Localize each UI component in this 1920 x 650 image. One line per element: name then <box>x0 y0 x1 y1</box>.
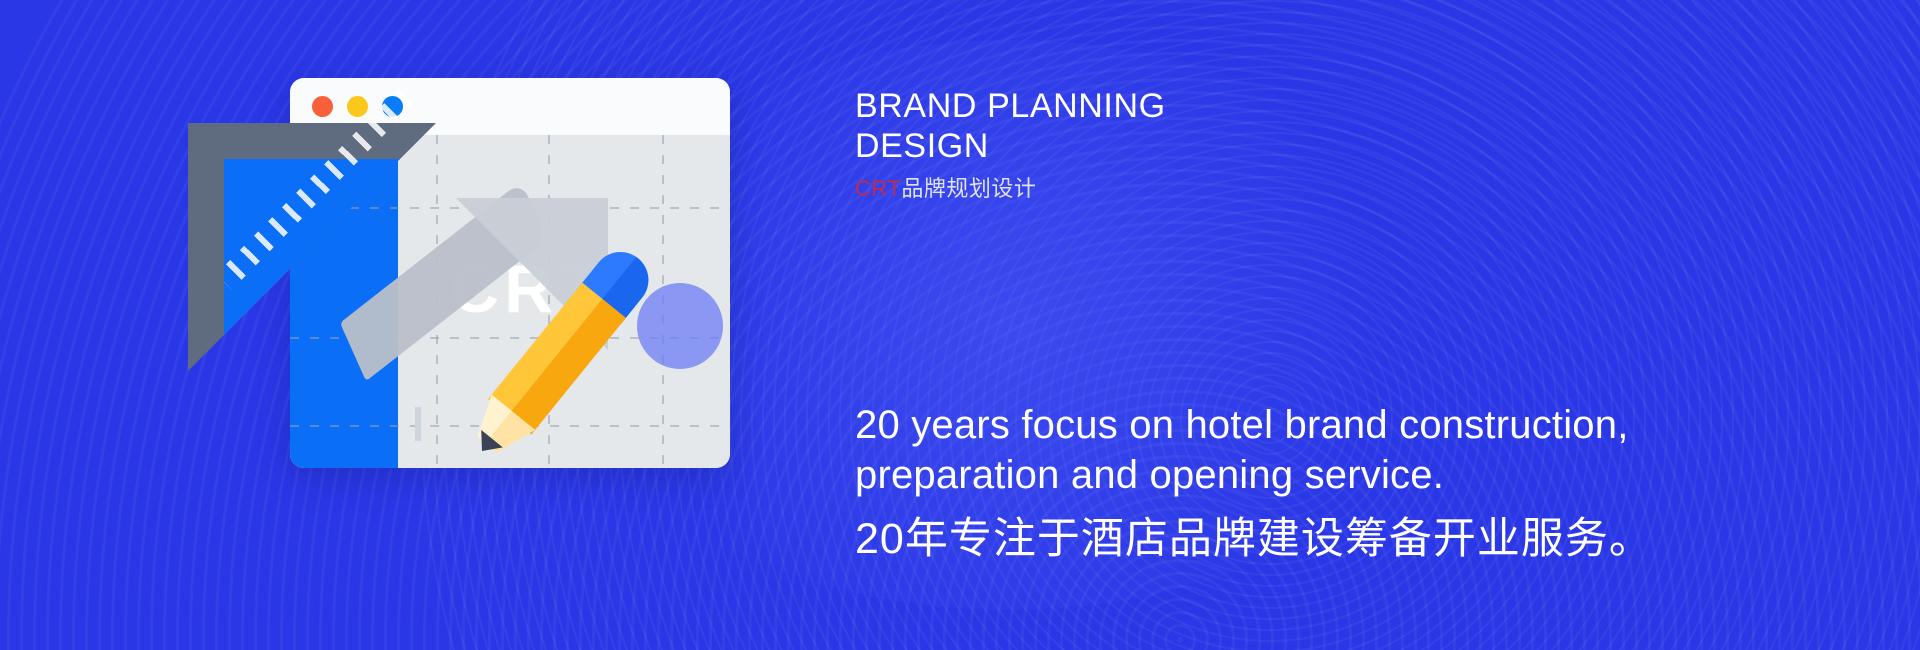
pencil-icon <box>462 223 762 523</box>
tagline-chinese: 20年专注于酒店品牌建设筹备开业服务。 <box>855 512 1835 566</box>
heading-english: BRAND PLANNING DESIGN <box>855 86 1495 166</box>
pencil-body-group <box>460 243 658 469</box>
tagline-english: 20 years focus on hotel brand constructi… <box>855 400 1835 500</box>
heading-brand-crt: CRT <box>855 176 901 201</box>
pencil-cap-glow <box>637 283 723 369</box>
close-dot <box>312 96 333 117</box>
heading-chinese-text: 品牌规划设计 <box>901 176 1036 201</box>
heading-block: BRAND PLANNING DESIGN CRT品牌规划设计 <box>855 86 1495 202</box>
illustration: CRT <box>230 78 750 478</box>
brand-banner: CRT <box>0 0 1920 650</box>
tagline-block: 20 years focus on hotel brand constructi… <box>855 400 1835 566</box>
pencil-stand <box>415 407 421 441</box>
minimize-dot <box>347 96 368 117</box>
heading-chinese: CRT品牌规划设计 <box>855 176 1495 202</box>
